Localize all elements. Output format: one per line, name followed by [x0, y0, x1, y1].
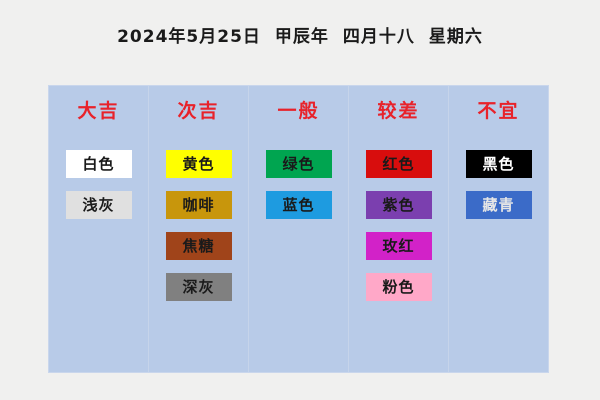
- grade-column-title: 不宜: [477, 102, 519, 121]
- grade-column: 次吉黄色咖啡焦糖深灰: [149, 86, 249, 372]
- color-swatch-list: 红色紫色玫红粉色: [349, 150, 448, 301]
- color-swatch: 粉色: [366, 273, 432, 301]
- color-swatch: 红色: [366, 150, 432, 178]
- grade-column: 大吉白色浅灰: [49, 86, 149, 372]
- color-swatch: 绿色: [266, 150, 332, 178]
- weekday: 星期六: [429, 22, 483, 47]
- date-header: 2024年5月25日甲辰年四月十八星期六: [0, 22, 600, 47]
- color-swatch-list: 绿色蓝色: [249, 150, 348, 219]
- color-swatch: 深灰: [166, 273, 232, 301]
- color-swatch-list: 黄色咖啡焦糖深灰: [149, 150, 248, 301]
- color-swatch: 黄色: [166, 150, 232, 178]
- color-swatch-list: 白色浅灰: [49, 150, 148, 219]
- color-swatch: 焦糖: [166, 232, 232, 260]
- color-grade-panel: 大吉白色浅灰次吉黄色咖啡焦糖深灰一般绿色蓝色较差红色紫色玫红粉色不宜黑色藏青: [48, 85, 549, 373]
- grade-column-title: 一般: [277, 102, 319, 121]
- lunar-date: 四月十八: [343, 22, 415, 47]
- grade-column: 较差红色紫色玫红粉色: [349, 86, 449, 372]
- color-swatch: 藏青: [466, 191, 532, 219]
- color-swatch: 浅灰: [66, 191, 132, 219]
- color-swatch-list: 黑色藏青: [449, 150, 548, 219]
- lucky-color-chart: 2024年5月25日甲辰年四月十八星期六 大吉白色浅灰次吉黄色咖啡焦糖深灰一般绿…: [0, 0, 600, 400]
- color-swatch: 玫红: [366, 232, 432, 260]
- grade-column-title: 较差: [377, 102, 419, 121]
- grade-column: 一般绿色蓝色: [249, 86, 349, 372]
- color-swatch: 咖啡: [166, 191, 232, 219]
- grade-column-title: 大吉: [77, 102, 119, 121]
- color-swatch: 黑色: [466, 150, 532, 178]
- color-swatch: 蓝色: [266, 191, 332, 219]
- grade-column: 不宜黑色藏青: [449, 86, 548, 372]
- gregorian-date: 2024年5月25日: [117, 22, 261, 47]
- ganzhi-year: 甲辰年: [275, 22, 329, 47]
- grade-column-title: 次吉: [177, 102, 219, 121]
- color-swatch: 紫色: [366, 191, 432, 219]
- color-swatch: 白色: [66, 150, 132, 178]
